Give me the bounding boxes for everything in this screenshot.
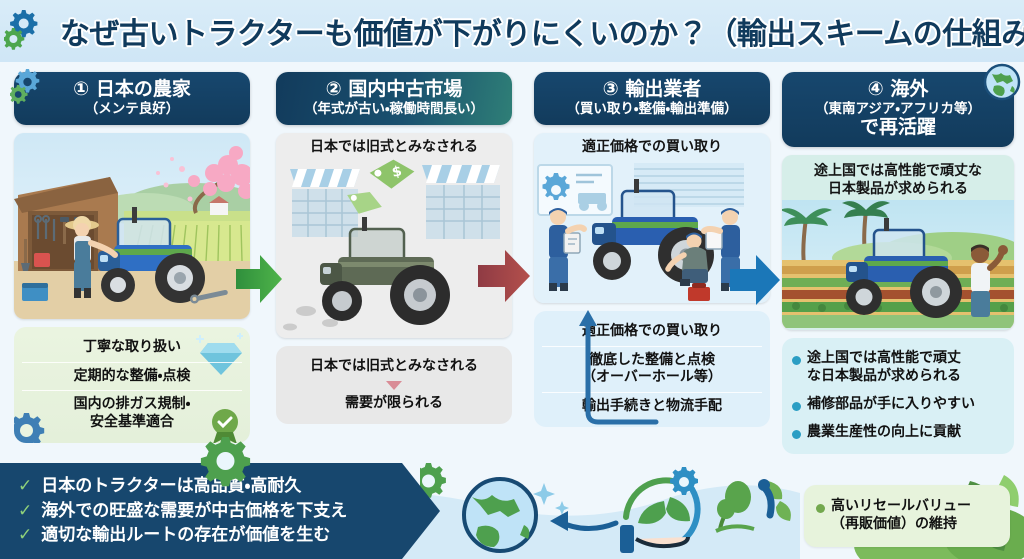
resale-text: 高いリセールバリュー （再販価値）の維持 (831, 498, 971, 534)
check-icon: ✓ (18, 474, 32, 499)
hand-holding-leaf-icon (620, 467, 698, 553)
fact-item: 定期的な整備・点検 (22, 362, 242, 391)
bullet-dot-icon (792, 430, 801, 439)
panel-4-header: ④ 海外 （東南アジア・アフリカ等） で再活躍 (782, 72, 1014, 147)
panel-farm: ① 日本の農家 （メンテ良好） (14, 72, 250, 443)
summary-item: ✓ 海外での旺盛な需要が中古価格を下支え (18, 499, 440, 524)
panel-4-title2: で再活躍 (788, 117, 1008, 139)
panel-1-facts: 丁寧な取り扱い 定期的な整備・点検 国内の排ガス規制・ 安全基準適合 (14, 327, 250, 443)
arrow-exporter-to-overseas (730, 255, 780, 305)
sustainability-illustration (420, 459, 800, 559)
panel-1-title: ① 日本の農家 (20, 79, 244, 100)
panel-3-caption: 適正価格での買い取り (534, 133, 770, 159)
bullet-item: 途上国では高性能で頑丈 な日本製品が求められる (790, 345, 1006, 391)
gear-icon (200, 433, 260, 489)
bullet-item: 農業生産性の向上に貢献 (790, 419, 1006, 447)
summary-text: 海外での旺盛な需要が中古価格を下支え (41, 499, 347, 524)
panel-2-header: ② 国内中古市場 （年式が古い・稼働時間長い） (276, 72, 512, 125)
tree-icon (716, 479, 791, 531)
panel-3-subtitle: （買い取り・整備・輸出準備） (540, 101, 764, 117)
bullet-item: 高いリセールバリュー （再販価値）の維持 (814, 493, 1000, 539)
bullet-text: 農業生産性の向上に貢献 (807, 424, 961, 442)
infographic-root: なぜ古いトラクターも価値が下がりにくいのか？（輸出スキームの仕組み） ① 日本の… (0, 0, 1024, 559)
arrow-left-icon (550, 511, 616, 531)
gears-icon (4, 6, 60, 58)
panel-3-header: ③ 輸出業者 （買い取り・整備・輸出準備） (534, 72, 770, 125)
panel-4-title: ④ 海外 (788, 79, 1008, 100)
panel-2-caption: 日本では旧式とみなされる (276, 133, 512, 159)
panel-1-subtitle: （メンテ良好） (20, 101, 244, 117)
bullet-text: 途上国では高性能で頑丈 な日本製品が求められる (807, 350, 961, 386)
page-title: なぜ古いトラクターも価値が下がりにくいのか？（輸出スキームの仕組み） (60, 9, 1024, 53)
arrow-feedback-up (470, 300, 660, 430)
header-bar: なぜ古いトラクターも価値が下がりにくいのか？（輸出スキームの仕組み） (0, 0, 1024, 62)
bullet-dot-icon (816, 504, 825, 513)
summary-text: 日本のトラクターは高品質・高耐久 (41, 474, 301, 499)
panel-2-title: ② 国内中古市場 (282, 79, 506, 100)
panel-4-facts: 途上国では高性能で頑丈 な日本製品が求められる 補修部品が手に入りやすい 農業生… (782, 338, 1014, 454)
arrow-farm-to-market (236, 255, 282, 303)
summary-text: 適切な輸出ルートの存在が価値を生む (41, 523, 330, 548)
bullet-dot-icon (792, 402, 801, 411)
panel-overseas: ④ 海外 （東南アジア・アフリカ等） で再活躍 途上国では高性能で頑丈な 日本製… (782, 72, 1014, 454)
resale-value-box: 高いリセールバリュー （再販価値）の維持 (804, 485, 1010, 547)
sparkle-icon (533, 483, 569, 515)
globe-icon (464, 479, 536, 551)
fact-item: 丁寧な取り扱い (22, 334, 242, 362)
panel-1-header: ① 日本の農家 （メンテ良好） (14, 72, 250, 125)
bullet-item: 補修部品が手に入りやすい (790, 391, 1006, 419)
bullet-text: 補修部品が手に入りやすい (807, 396, 975, 414)
check-icon: ✓ (18, 499, 32, 524)
panel-4-illustration: 途上国では高性能で頑丈な 日本製品が求められる (782, 155, 1014, 330)
globe-icon (982, 62, 1022, 102)
check-icon: ✓ (18, 523, 32, 548)
gears-icon (10, 67, 52, 107)
panel-3-title: ③ 輸出業者 (540, 79, 764, 100)
panel-4-caption: 途上国では高性能で頑丈な 日本製品が求められる (782, 155, 1014, 200)
fact-item: 国内の排ガス規制・ 安全基準適合 (22, 390, 242, 436)
summary-item: ✓ 適切な輸出ルートの存在が価値を生む (18, 523, 440, 548)
bullet-dot-icon (792, 356, 801, 365)
panel-1-illustration (14, 133, 250, 319)
arrow-market-to-exporter (478, 250, 530, 302)
gear-icon (670, 467, 698, 495)
panel-2-subtitle: （年式が古い・稼働時間長い） (282, 101, 506, 117)
